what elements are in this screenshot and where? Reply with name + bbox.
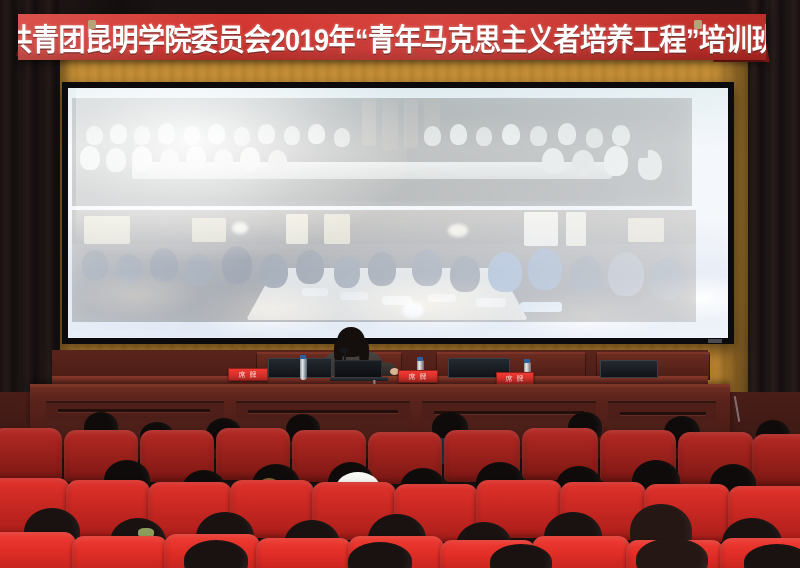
banner-tie-left bbox=[88, 20, 96, 29]
screen-surface bbox=[68, 88, 728, 338]
presenter-laptop-screen[interactable] bbox=[334, 360, 382, 378]
theater-seat[interactable] bbox=[0, 532, 76, 568]
auditorium-scene: 共青团昆明学院委员会2019年“青年马克思主义者培养工程”培训班 bbox=[0, 0, 800, 568]
name-placard-right-label: 席 牌 bbox=[506, 374, 525, 384]
modern-meeting-photo bbox=[72, 210, 696, 322]
name-placard-center-label: 席 牌 bbox=[409, 372, 428, 382]
stage-curtain-left bbox=[0, 0, 60, 430]
historical-meeting-photo bbox=[72, 98, 692, 206]
water-bottle-right-cap bbox=[524, 359, 530, 363]
presenter-laptop-base[interactable] bbox=[330, 377, 388, 381]
theater-seat[interactable] bbox=[752, 434, 800, 486]
event-banner: 共青团昆明学院委员会2019年“青年马克思主义者培养工程”培训班 bbox=[18, 14, 766, 60]
stage-monitor-far-right bbox=[600, 360, 658, 378]
seated-audience bbox=[0, 400, 800, 568]
theater-seat[interactable] bbox=[72, 536, 168, 568]
water-bottle-left-cap bbox=[300, 355, 306, 359]
theater-seat[interactable] bbox=[0, 428, 62, 480]
podium-microphone-head[interactable] bbox=[340, 348, 349, 353]
banner-title-text: 共青团昆明学院委员会2019年“青年马克思主义者培养工程”培训班 bbox=[18, 15, 766, 59]
theater-seat[interactable] bbox=[256, 538, 352, 568]
banner-tie-right bbox=[694, 20, 702, 29]
name-placard-left-label: 席 牌 bbox=[239, 370, 258, 380]
water-bottle-left[interactable] bbox=[300, 358, 307, 380]
water-bottle-center-cap bbox=[417, 357, 423, 361]
stage-curtain-right bbox=[748, 0, 800, 430]
name-placard-center[interactable]: 席 牌 bbox=[398, 370, 438, 383]
name-placard-left[interactable]: 席 牌 bbox=[228, 368, 268, 381]
projection-screen bbox=[62, 82, 734, 344]
